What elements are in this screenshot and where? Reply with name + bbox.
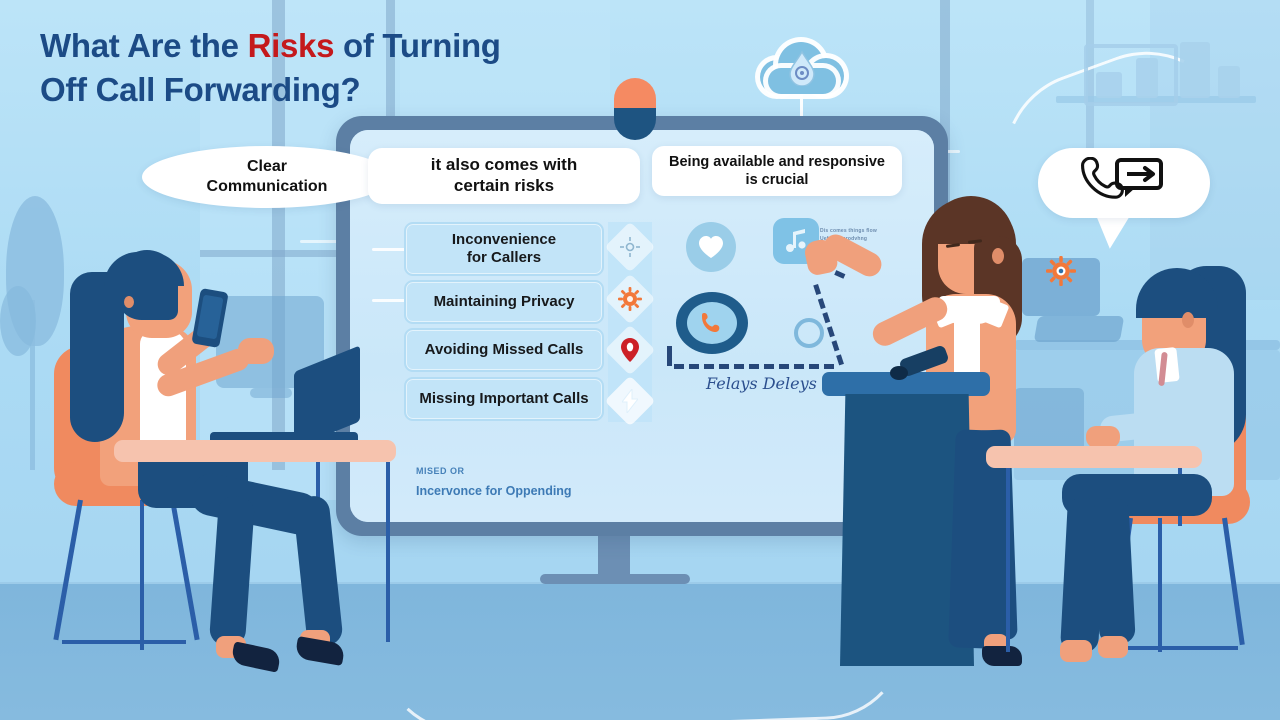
phone-handset-icon [699, 310, 725, 336]
speech-bubble-certain-risks: it also comes with certain risks [368, 148, 640, 204]
ear [124, 296, 134, 308]
foot [1060, 640, 1092, 662]
hand [238, 338, 274, 364]
foot [1098, 636, 1128, 658]
ear [1182, 312, 1194, 328]
list-item[interactable]: Missing Important Calls [404, 377, 604, 421]
desk-leg [1006, 468, 1010, 652]
heart-widget [686, 222, 736, 272]
icon-cell [608, 378, 652, 424]
location-pin-icon [605, 325, 656, 376]
illustration-canvas: Inconvenience for Callers Maintaining Pr… [0, 0, 1280, 720]
speech-bubble-clear-communication: Clear Communication [142, 146, 392, 208]
ear [992, 248, 1004, 264]
bg-monitor-stand [250, 388, 292, 398]
bubble-text: Being available and responsive is crucia… [669, 153, 885, 189]
bg-keyboard [1034, 316, 1125, 342]
screen-caption-small: MISED OR [416, 466, 465, 476]
crosshair-icon [605, 222, 656, 273]
title-line2: Off Call Forwarding? [40, 71, 360, 108]
title-highlight: Risks [248, 27, 335, 64]
phone-badge [676, 292, 748, 354]
gear-icon [605, 274, 656, 325]
shelf-box [1180, 42, 1210, 98]
bubble-text: it also comes with certain risks [431, 155, 577, 196]
chair-leg [140, 500, 144, 650]
desk-top [114, 440, 396, 462]
title-line1-part1: What Are the [40, 27, 248, 64]
heart-icon [698, 235, 724, 259]
list-item[interactable]: Avoiding Missed Calls [404, 328, 604, 372]
icon-cell [608, 327, 652, 373]
page-title: What Are the Risks of Turning Off Call F… [40, 24, 660, 111]
list-item-label: Maintaining Privacy [434, 293, 575, 311]
desk-top [986, 446, 1202, 468]
list-item-label: Avoiding Missed Calls [425, 341, 584, 359]
title-line1-part2: of Turning [334, 27, 501, 64]
droplet-shield-icon [787, 50, 817, 86]
list-item-label: Inconvenience for Callers [452, 231, 556, 266]
script-label: Felays Deleys [706, 374, 817, 393]
icon-cell [608, 224, 652, 270]
shin [1092, 497, 1136, 645]
gear-icon [1046, 256, 1076, 286]
list-item-label: Missing Important Calls [419, 390, 588, 408]
icon-cell [608, 276, 652, 322]
speech-bubble-being-available: Being available and responsive is crucia… [652, 146, 902, 196]
chair-foot-rail [62, 640, 186, 644]
monitor-base [540, 574, 690, 584]
lightning-bolt-icon [605, 376, 656, 427]
dashed-path [674, 364, 834, 369]
shelf-box [1218, 66, 1240, 98]
microphone-head [890, 366, 908, 380]
hand [1086, 426, 1120, 448]
phone-badge-inner [687, 302, 737, 344]
circle-outline-icon [794, 318, 824, 348]
shoe [982, 646, 1022, 666]
hair-ponytail [70, 272, 124, 442]
phone-forward-icon [1081, 157, 1167, 209]
speech-bubble-call-forwarding [1038, 148, 1210, 218]
cloud-icon [760, 40, 844, 94]
dashed-path [667, 346, 672, 366]
list-item[interactable]: Inconvenience for Callers [404, 222, 604, 276]
chair-leg [1158, 518, 1162, 652]
screen-caption-large: Incervonce for Oppending [416, 484, 572, 498]
shelf-box [1096, 72, 1122, 98]
desk-leg [386, 462, 390, 642]
shelf-box [1136, 58, 1158, 98]
list-item[interactable]: Maintaining Privacy [404, 280, 604, 324]
chair-foot-rail [1114, 646, 1238, 650]
bubble-text: Clear Communication [207, 157, 328, 197]
plant-leaf [0, 286, 36, 356]
